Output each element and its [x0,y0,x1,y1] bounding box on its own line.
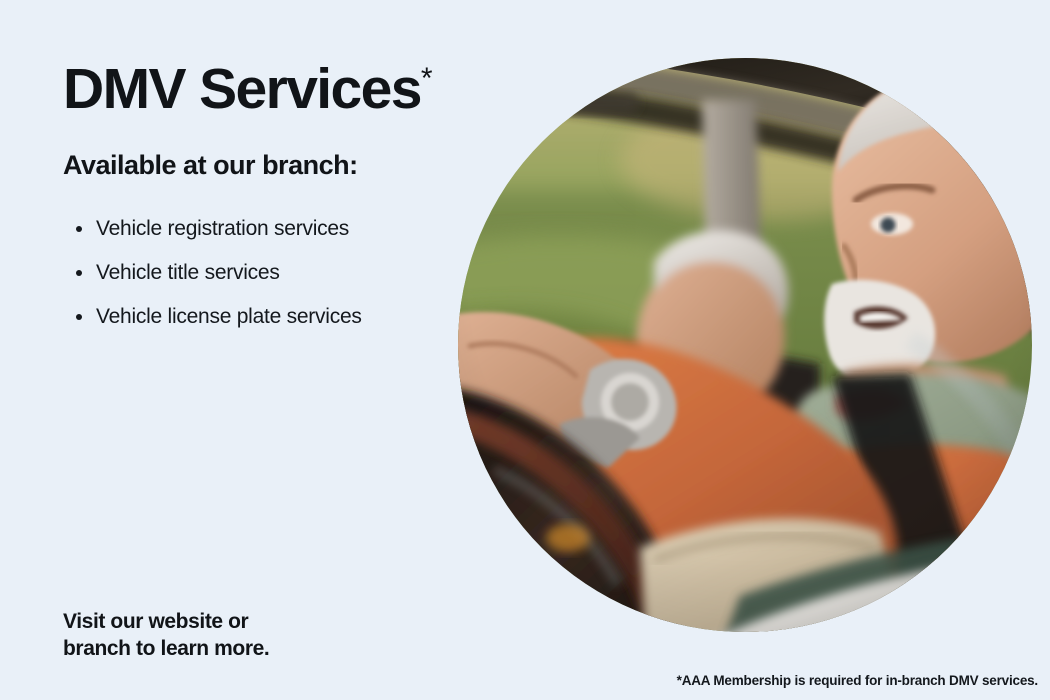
service-label: Vehicle registration services [96,217,349,240]
services-list: Vehicle registration services Vehicle ti… [63,207,463,339]
service-label: Vehicle title services [96,261,280,284]
page-title: DMV Services* [63,60,433,120]
cta-line-2: branch to learn more. [63,635,269,662]
subtitle: Available at our branch: [63,150,358,181]
photo-vignette [440,40,1050,650]
hero-photo-illustration [440,40,1050,650]
bullet-icon [76,314,82,320]
page-title-text: DMV Services [63,57,421,121]
driver-ear [1038,221,1050,285]
list-item: Vehicle title services [63,251,463,295]
promo-banner: DMV Services* Available at our branch: V… [0,0,1050,700]
text-column: DMV Services* Available at our branch: V… [0,0,470,700]
service-label: Vehicle license plate services [96,305,362,328]
list-item: Vehicle registration services [63,207,463,251]
footnote-disclaimer: *AAA Membership is required for in-branc… [677,673,1038,688]
call-to-action: Visit our website or branch to learn mor… [63,608,269,662]
cta-line-1: Visit our website or [63,610,248,633]
bullet-icon [76,270,82,276]
photo-content [440,40,1050,650]
title-asterisk: * [421,62,433,95]
bullet-icon [76,226,82,232]
hero-photo [440,40,1050,650]
list-item: Vehicle license plate services [63,295,463,339]
